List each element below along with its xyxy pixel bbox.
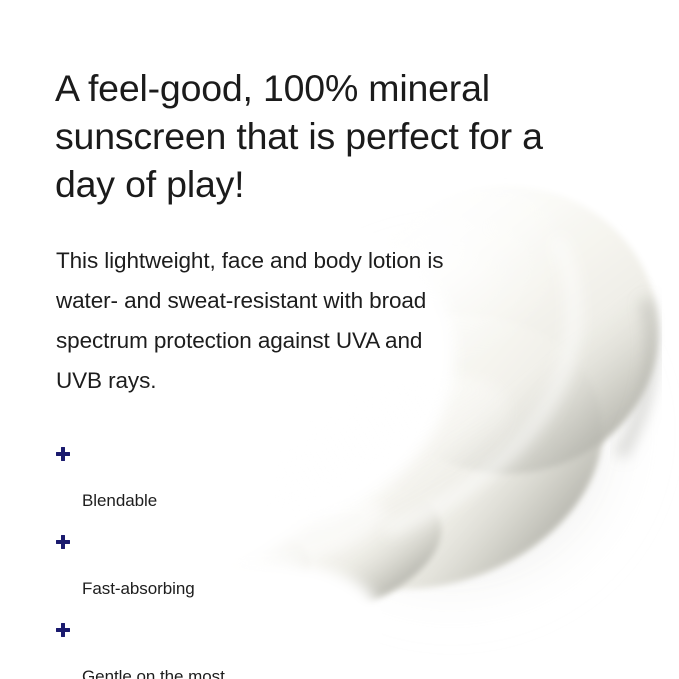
benefit-label: Fast-absorbing (82, 579, 195, 598)
product-description: This lightweight, face and body lotion i… (56, 241, 466, 401)
plus-icon (56, 447, 70, 461)
list-item: Blendable (56, 446, 386, 512)
plus-icon (56, 535, 70, 549)
product-benefits-card: A feel-good, 100% mineral sunscreen that… (0, 0, 679, 679)
benefit-label: Gentle on the most sensitive skin (82, 667, 225, 679)
list-item: Fast-absorbing (56, 534, 386, 600)
benefits-list: Blendable Fast-absorbing Gentle on the m… (56, 446, 386, 679)
benefit-label: Blendable (82, 491, 157, 510)
page-title: A feel-good, 100% mineral sunscreen that… (55, 64, 585, 208)
copy-block: A feel-good, 100% mineral sunscreen that… (0, 0, 679, 679)
plus-icon (56, 623, 70, 637)
list-item: Gentle on the most sensitive skin (56, 622, 386, 679)
